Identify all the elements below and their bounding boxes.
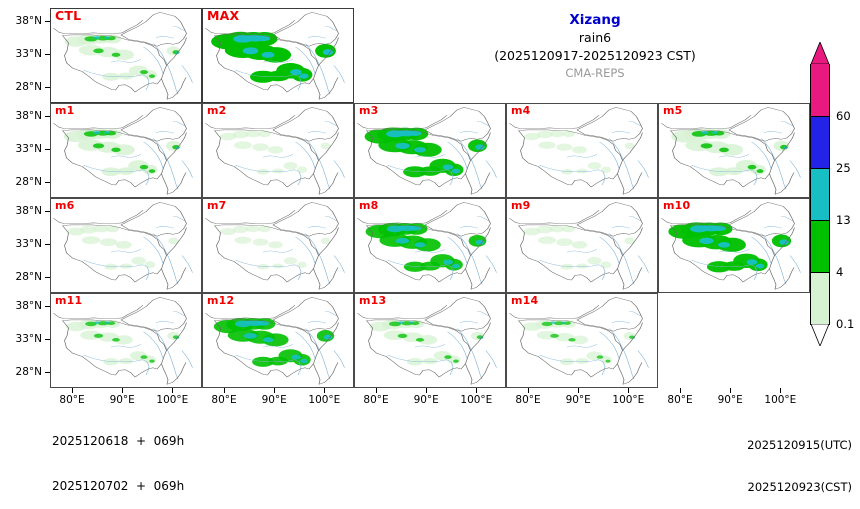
map-canvas-m6 [51,199,201,292]
map-canvas-m7 [203,199,353,292]
lat-tick-mark [45,116,50,117]
lat-tick-mark [45,306,50,307]
panel-label-m2: m2 [207,105,227,117]
lat-tick-label: 38°N [16,300,42,312]
lon-tick-mark [324,388,325,393]
lon-tick-label: 90°E [262,394,287,406]
panel-label-m3: m3 [359,105,379,117]
panel-label-m9: m9 [511,200,531,212]
lat-tick-label: 33°N [16,333,42,345]
lat-tick-mark [45,372,50,373]
lon-tick-label: 80°E [667,394,692,406]
panel-label-ctl: CTL [55,10,81,22]
map-panel-m7[interactable]: m7 [202,198,354,293]
initialization-times: 2025120618 + 069h 2025120702 + 069h [52,404,184,509]
map-canvas-m2 [203,104,353,197]
map-canvas-m8 [355,199,505,292]
map-canvas-m10 [659,199,809,292]
lat-tick-mark [45,244,50,245]
lon-tick-label: 80°E [363,394,388,406]
panel-label-m5: m5 [663,105,683,117]
panel-label-m8: m8 [359,200,379,212]
colorbar-segment [810,116,830,168]
colorbar-segment [810,272,830,324]
lon-tick-mark [628,388,629,393]
lon-tick-label: 100°E [612,394,644,406]
lon-tick-label: 90°E [414,394,439,406]
colorbar-tick [810,220,830,221]
lat-tick-label: 38°N [16,15,42,27]
colorbar-label: 4 [836,265,843,279]
map-canvas-m13 [355,294,505,387]
lon-tick-mark [426,388,427,393]
panel-label-m12: m12 [207,295,234,307]
panel-label-m14: m14 [511,295,538,307]
lat-tick-mark [45,211,50,212]
map-panel-m13[interactable]: m13 [354,293,506,388]
lon-tick-mark [224,388,225,393]
lon-tick-label: 100°E [308,394,340,406]
lon-tick-mark [72,388,73,393]
map-panel-m8[interactable]: m8 [354,198,506,293]
lon-tick-mark [780,388,781,393]
lon-tick-label: 100°E [460,394,492,406]
lat-tick-label: 28°N [16,176,42,188]
map-panel-m1[interactable]: m1 [50,103,202,198]
valid-times: 2025120915(UTC) 2025120923(CST) [747,410,852,508]
lat-tick-mark [45,277,50,278]
panel-label-m11: m11 [55,295,82,307]
map-canvas-m12 [203,294,353,387]
init-time-line2: 2025120702 + 069h [52,479,184,494]
map-panel-m2[interactable]: m2 [202,103,354,198]
map-canvas-m4 [507,104,657,197]
lon-tick-label: 80°E [211,394,236,406]
lon-tick-mark [376,388,377,393]
map-panel-m14[interactable]: m14 [506,293,658,388]
colorbar-tick [810,168,830,169]
colorbar-segment [810,220,830,272]
colorbar-under-arrow [810,324,830,346]
map-canvas-m5 [659,104,809,197]
lat-tick-label: 38°N [16,110,42,122]
map-panel-m4[interactable]: m4 [506,103,658,198]
lon-tick-label: 80°E [515,394,540,406]
lat-tick-mark [45,339,50,340]
colorbar-segment [810,64,830,116]
colorbar-label: 13 [836,213,851,227]
map-panel-ctl[interactable]: CTL [50,8,202,103]
map-panel-max[interactable]: MAX [202,8,354,103]
valid-time-cst: 2025120923(CST) [747,480,852,494]
lon-tick-mark [172,388,173,393]
lon-tick-mark [680,388,681,393]
colorbar-label: 0.1 [836,317,854,331]
lon-tick-mark [730,388,731,393]
colorbar-label: 60 [836,109,851,123]
model-title: CMA-REPS [445,65,745,82]
colorbar-tick [810,116,830,117]
panel-label-m7: m7 [207,200,227,212]
map-canvas-m3 [355,104,505,197]
colorbar-tick [810,272,830,273]
map-panel-m5[interactable]: m5 [658,103,810,198]
lon-tick-mark [528,388,529,393]
lat-tick-mark [45,21,50,22]
lat-tick-label: 28°N [16,271,42,283]
period-title: (2025120917-2025120923 CST) [445,47,745,65]
lon-tick-label: 100°E [764,394,796,406]
lat-tick-label: 33°N [16,48,42,60]
init-time-line1: 2025120618 + 069h [52,434,184,449]
lon-tick-label: 90°E [718,394,743,406]
lat-tick-label: 33°N [16,143,42,155]
colorbar-over-arrow [810,42,830,64]
lat-tick-label: 28°N [16,366,42,378]
colorbar-label: 25 [836,161,851,175]
map-panel-m12[interactable]: m12 [202,293,354,388]
variable-title: rain6 [445,29,745,47]
panel-label-m4: m4 [511,105,531,117]
map-panel-m10[interactable]: m10 [658,198,810,293]
panel-label-m6: m6 [55,200,75,212]
map-canvas-m11 [51,294,201,387]
map-panel-m6[interactable]: m6 [50,198,202,293]
lat-tick-label: 28°N [16,81,42,93]
lon-tick-mark [476,388,477,393]
panel-label-m1: m1 [55,105,75,117]
colorbar-legend: 0.14132560 [810,64,830,324]
lat-tick-mark [45,182,50,183]
panel-label-m13: m13 [359,295,386,307]
chart-title-block: Xizang rain6 (2025120917-2025120923 CST)… [445,12,745,82]
lon-tick-mark [122,388,123,393]
map-canvas-m14 [507,294,657,387]
lon-tick-label: 90°E [566,394,591,406]
lon-tick-mark [578,388,579,393]
lat-tick-mark [45,87,50,88]
lat-tick-label: 38°N [16,205,42,217]
colorbar-segment [810,168,830,220]
map-canvas-m1 [51,104,201,197]
valid-time-utc: 2025120915(UTC) [747,438,852,452]
lat-tick-label: 33°N [16,238,42,250]
panel-label-max: MAX [207,10,239,22]
lat-tick-mark [45,54,50,55]
map-panel-m11[interactable]: m11 [50,293,202,388]
map-panel-m3[interactable]: m3 [354,103,506,198]
lat-tick-mark [45,149,50,150]
lon-tick-mark [274,388,275,393]
map-panel-m9[interactable]: m9 [506,198,658,293]
region-title: Xizang [445,12,745,29]
panel-label-m10: m10 [663,200,690,212]
map-canvas-m9 [507,199,657,292]
